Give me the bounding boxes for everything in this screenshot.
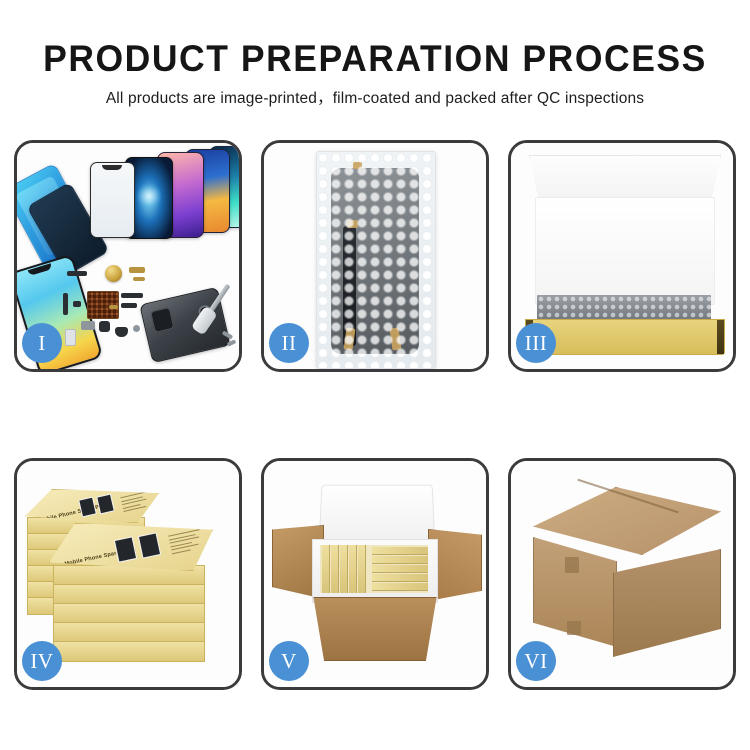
box-print-swatch [78, 497, 97, 518]
stacked-box [53, 622, 205, 643]
spare-part [133, 277, 145, 281]
box-print-lines [120, 491, 151, 515]
box-print-swatch [138, 532, 161, 558]
inner-boxes-group [320, 545, 428, 593]
process-step-5: V [261, 458, 489, 690]
bubble-texture [317, 152, 435, 368]
stacked-box [53, 641, 205, 662]
process-grid: I II [14, 140, 736, 690]
process-step-3: III [508, 140, 736, 372]
spare-part [109, 305, 118, 309]
spare-part [65, 329, 76, 346]
foam-sheet-icon [535, 197, 715, 305]
stacked-box [53, 584, 205, 605]
box-print-swatch [114, 536, 137, 562]
spare-part [99, 321, 110, 332]
carton-tape [565, 557, 579, 573]
box-print-lines [168, 529, 206, 557]
carton-top-face [533, 487, 721, 555]
step-badge-6: VI [516, 641, 556, 681]
bubble-wrap-bag-icon [316, 151, 436, 369]
stacked-box [53, 603, 205, 624]
stacked-box-lid: Mobile Phone Spare Parts [49, 523, 213, 571]
step-badge-1: I [22, 323, 62, 363]
page-title: PRODUCT PREPARATION PROCESS [15, 38, 735, 80]
step-badge-4: IV [22, 641, 62, 681]
spare-part [121, 293, 143, 298]
spare-part [81, 321, 95, 330]
carton-tape [567, 621, 581, 635]
process-step-4: Mobile Phone Spare Parts Mobile Phone Sp… [14, 458, 242, 690]
carton-right-face [613, 549, 721, 657]
spare-part [133, 325, 140, 332]
spare-part [121, 303, 137, 308]
spare-part [129, 267, 145, 273]
spare-part [115, 327, 128, 337]
header: PRODUCT PREPARATION PROCESS All products… [0, 0, 750, 109]
spare-part [67, 271, 87, 276]
step-badge-2: II [269, 323, 309, 363]
spare-part [73, 301, 81, 307]
tempered-glass-icon [90, 162, 135, 238]
box-print-swatch [96, 494, 115, 515]
gold-coil-icon [105, 265, 122, 282]
poster-root: PRODUCT PREPARATION PROCESS All products… [0, 0, 750, 750]
carton-front-panel [308, 597, 442, 661]
foam-cooler-lid-icon [318, 485, 435, 547]
step-badge-3: III [516, 323, 556, 363]
process-step-1: I [14, 140, 242, 372]
process-step-6: VI [508, 458, 736, 690]
spare-part [63, 293, 68, 315]
step-badge-5: V [269, 641, 309, 681]
process-step-2: II [261, 140, 489, 372]
page-subtitle: All products are image-printed，film-coat… [0, 89, 750, 109]
